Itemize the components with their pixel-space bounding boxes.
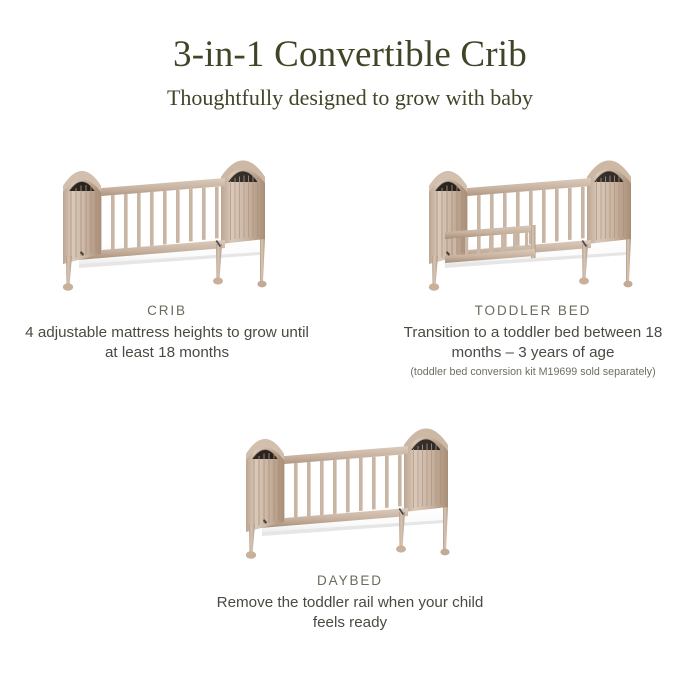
- page-subtitle: Thoughtfully designed to grow with baby: [0, 85, 700, 110]
- crib-arch-right: [221, 161, 265, 245]
- header: 3-in-1 Convertible Crib Thoughtfully des…: [0, 0, 700, 110]
- toddler-bed-illustration: [383, 128, 683, 296]
- infographic-page: 3-in-1 Convertible Crib Thoughtfully des…: [0, 0, 700, 700]
- crib-illustration: [17, 128, 317, 296]
- caption-note: (toddler bed conversion kit M19699 sold …: [388, 366, 678, 380]
- caption-body: Transition to a toddler bed between 18 m…: [388, 323, 678, 363]
- page-title: 3-in-1 Convertible Crib: [0, 36, 700, 75]
- caption-crib: CRIB 4 adjustable mattress heights to gr…: [22, 302, 312, 363]
- panel-daybed: DAYBED Remove the toddler rail when your…: [200, 394, 500, 633]
- crib-arch-left: [63, 171, 101, 264]
- panel-crib: CRIB 4 adjustable mattress heights to gr…: [17, 128, 317, 363]
- caption-title: DAYBED: [205, 572, 495, 590]
- toddler-arch-left: [429, 171, 467, 264]
- daybed-illustration: [200, 394, 500, 566]
- caption-title: TODDLER BED: [388, 302, 678, 320]
- panel-row-bottom: DAYBED Remove the toddler rail when your…: [0, 394, 700, 633]
- caption-body: Remove the toddler rail when your child …: [205, 593, 495, 633]
- caption-toddler-bed: TODDLER BED Transition to a toddler bed …: [388, 302, 678, 380]
- panel-toddler-bed: TODDLER BED Transition to a toddler bed …: [383, 128, 683, 380]
- caption-body: 4 adjustable mattress heights to grow un…: [22, 323, 312, 363]
- caption-daybed: DAYBED Remove the toddler rail when your…: [205, 572, 495, 633]
- caption-title: CRIB: [22, 302, 312, 320]
- toddler-arch-right: [587, 161, 631, 245]
- daybed-arch-left: [246, 439, 284, 532]
- daybed-arch-right: [404, 429, 448, 513]
- panel-row-top: CRIB 4 adjustable mattress heights to gr…: [0, 128, 700, 380]
